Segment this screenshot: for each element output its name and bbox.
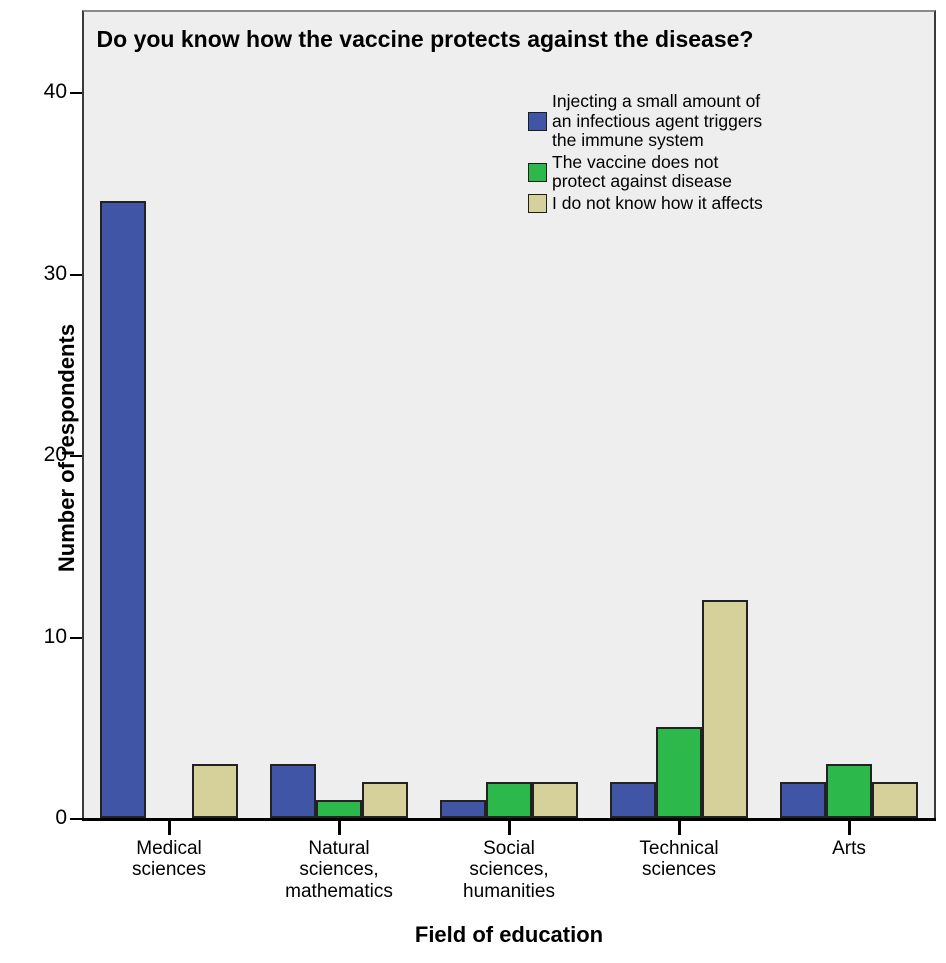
x-tick-label: Naturalsciences,mathematics xyxy=(285,838,393,902)
bar[interactable] xyxy=(192,764,238,818)
bar[interactable] xyxy=(100,201,146,818)
bar[interactable] xyxy=(486,782,532,818)
y-axis-tick: 0 xyxy=(0,818,82,819)
x-tick-label: Medicalsciences xyxy=(132,838,206,881)
bar-group xyxy=(84,12,254,818)
bars-container xyxy=(84,12,934,818)
bar[interactable] xyxy=(362,782,408,818)
y-tick-label: 20 xyxy=(44,443,67,467)
bar[interactable] xyxy=(826,764,872,818)
y-tick-label: 10 xyxy=(44,625,67,649)
bar[interactable] xyxy=(872,782,918,818)
y-tick-mark xyxy=(70,274,82,276)
bar[interactable] xyxy=(532,782,578,818)
x-tick-label: Technicalsciences xyxy=(639,838,718,881)
y-axis-tick: 20 xyxy=(0,455,82,456)
x-tick-mark xyxy=(338,821,341,835)
y-tick-label: 30 xyxy=(44,262,67,286)
bar[interactable] xyxy=(702,600,748,818)
bar[interactable] xyxy=(610,782,656,818)
y-axis-tick: 10 xyxy=(0,637,82,638)
y-axis-tick: 40 xyxy=(0,92,82,93)
bar[interactable] xyxy=(780,782,826,818)
y-tick-label: 0 xyxy=(55,806,67,830)
bar[interactable] xyxy=(440,800,486,818)
x-axis-title: Field of education xyxy=(82,922,936,948)
x-tick-mark xyxy=(678,821,681,835)
y-axis-tick: 30 xyxy=(0,274,82,275)
bar-group xyxy=(764,12,934,818)
bar-group xyxy=(594,12,764,818)
x-tick-mark xyxy=(168,821,171,835)
y-tick-label: 40 xyxy=(44,80,67,104)
bar-chart: Do you know how the vaccine protects aga… xyxy=(0,0,946,963)
bar[interactable] xyxy=(316,800,362,818)
x-tick-mark xyxy=(848,821,851,835)
y-tick-mark xyxy=(70,818,82,820)
x-tick-mark xyxy=(508,821,511,835)
bar[interactable] xyxy=(656,727,702,818)
bar-group xyxy=(254,12,424,818)
bar[interactable] xyxy=(270,764,316,818)
y-tick-mark xyxy=(70,455,82,457)
x-tick-label: Arts xyxy=(832,838,866,859)
x-tick-label: Socialsciences,humanities xyxy=(463,838,555,902)
y-tick-mark xyxy=(70,637,82,639)
bar-group xyxy=(424,12,594,818)
y-tick-mark xyxy=(70,92,82,94)
